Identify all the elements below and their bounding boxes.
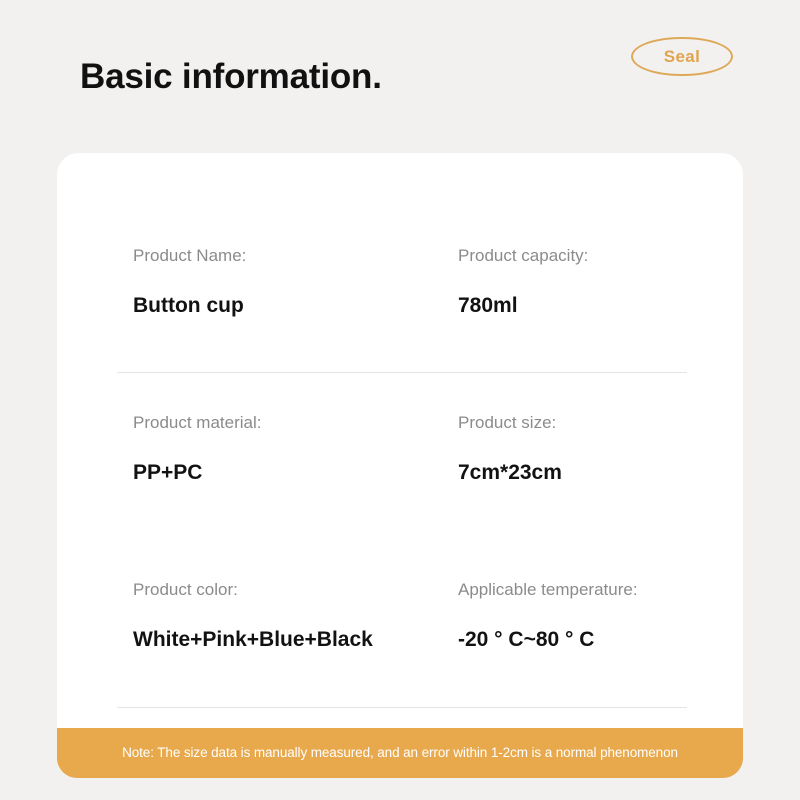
note-banner: Note: The size data is manually measured… — [57, 728, 743, 778]
spec-value: 780ml — [458, 293, 518, 318]
spec-label: Product size: — [458, 413, 556, 433]
spec-value: Button cup — [133, 293, 244, 318]
page-header: Basic information. Seal — [0, 0, 800, 150]
seal-badge: Seal — [631, 37, 733, 76]
table-row: Product color: White+Pink+Blue+Black App… — [57, 487, 743, 654]
spec-value: PP+PC — [133, 460, 202, 485]
spec-label: Product capacity: — [458, 246, 588, 266]
table-row: Product Name: Button cup Product capacit… — [57, 153, 743, 320]
spec-label: Product material: — [133, 413, 262, 433]
spec-label: Product color: — [133, 580, 238, 600]
seal-badge-label: Seal — [664, 48, 701, 65]
spec-label: Applicable temperature: — [458, 580, 638, 600]
row-divider — [117, 707, 687, 708]
basic-information-card: Product Name: Button cup Product capacit… — [57, 153, 743, 778]
spec-value: -20 ° C~80 ° C — [458, 627, 594, 652]
table-row: Product material: PP+PC Product size: 7c… — [57, 320, 743, 487]
spec-value: White+Pink+Blue+Black — [133, 627, 373, 652]
note-banner-text: Note: The size data is manually measured… — [122, 744, 678, 762]
spec-label: Product Name: — [133, 246, 246, 266]
page-title: Basic information. — [80, 56, 382, 98]
spec-value: 7cm*23cm — [458, 460, 562, 485]
spec-table: Product Name: Button cup Product capacit… — [57, 153, 743, 654]
